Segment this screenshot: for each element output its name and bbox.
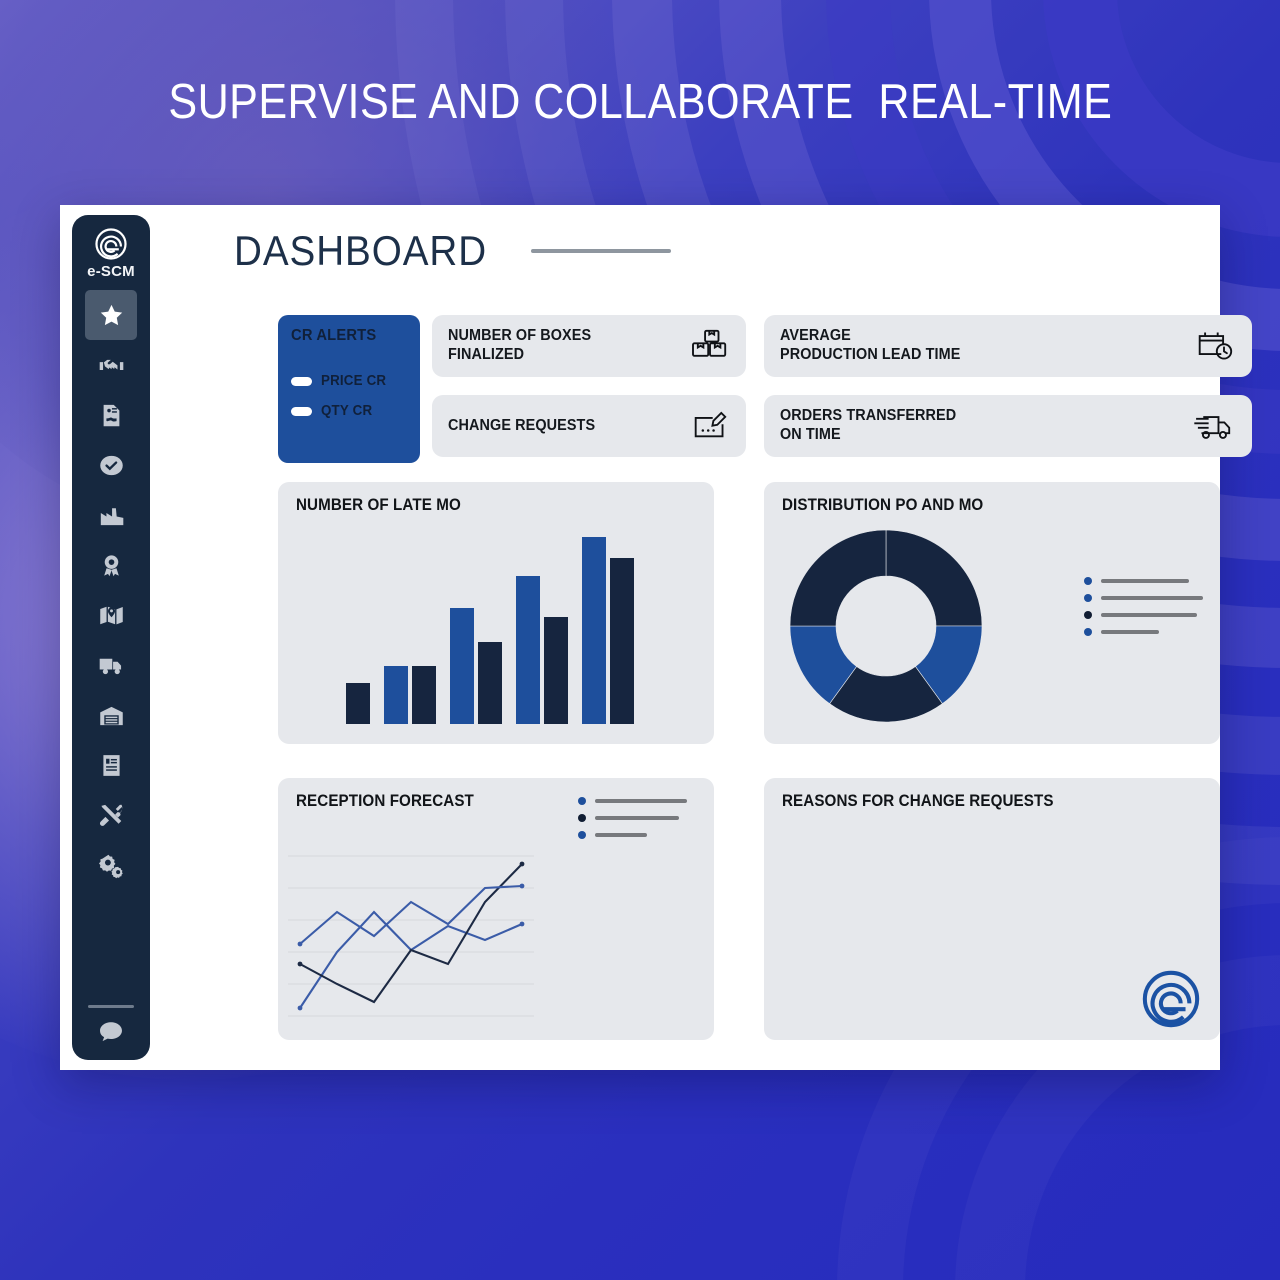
- kpi-orders-transferred[interactable]: ORDERS TRANSFERRED ON TIME: [764, 395, 1252, 457]
- cr-toggle-price[interactable]: PRICE CR: [291, 373, 392, 389]
- calendar-clock-icon: [1194, 328, 1236, 364]
- legend-label-placeholder: [1101, 579, 1189, 583]
- kpi-orders-transferred-label: ORDERS TRANSFERRED ON TIME: [780, 407, 956, 445]
- cr-alerts-card[interactable]: CR ALERTS PRICE CR QTY CR: [278, 315, 420, 463]
- sidebar-item-warehouse[interactable]: [85, 690, 137, 740]
- panel-late-mo: NUMBER OF LATE MO: [278, 482, 714, 744]
- legend-dot: [1084, 628, 1092, 636]
- sidebar-item-factory[interactable]: [85, 490, 137, 540]
- chart-late-mo: [318, 537, 648, 724]
- sidebar-nav: [85, 290, 137, 890]
- legend-dot: [578, 831, 586, 839]
- bar: [610, 558, 634, 724]
- kpi-change-requests[interactable]: CHANGE REQUESTS: [432, 395, 746, 457]
- donut-segment: [886, 530, 982, 626]
- factory-icon: [98, 502, 125, 529]
- panel-distribution: DISTRIBUTION PO AND MO: [764, 482, 1220, 744]
- legend-item: [1084, 594, 1203, 602]
- warehouse-icon: [98, 702, 125, 729]
- legend-dot: [1084, 577, 1092, 585]
- sidebar-item-settings[interactable]: [85, 840, 137, 890]
- handshake-icon: [98, 352, 125, 379]
- check-circle-icon: [98, 452, 125, 479]
- legend-label-placeholder: [595, 816, 679, 820]
- donut-legend: [1084, 577, 1203, 636]
- sidebar-item-transport[interactable]: [85, 640, 137, 690]
- contract-document-icon: [98, 402, 125, 429]
- kpi-production-lead-time-label: AVERAGE PRODUCTION LEAD TIME: [780, 327, 960, 365]
- app-window: e-SCM: [60, 205, 1220, 1070]
- bar: [412, 666, 436, 724]
- award-badge-icon: [98, 552, 125, 579]
- chart-reasons-cr: [794, 836, 1194, 1021]
- chat-bubble-icon[interactable]: [97, 1018, 125, 1046]
- truck-icon: [98, 652, 125, 679]
- sidebar-item-map[interactable]: [85, 590, 137, 640]
- legend-item: [578, 831, 687, 839]
- bar: [582, 537, 606, 724]
- legend-label-placeholder: [1101, 613, 1197, 617]
- legend-item: [1084, 628, 1203, 636]
- panel-reasons-cr-title: REASONS FOR CHANGE REQUESTS: [782, 792, 1054, 811]
- legend-item: [578, 797, 687, 805]
- toggle-pill-icon[interactable]: [291, 407, 312, 416]
- delivery-truck-icon: [1192, 409, 1236, 443]
- sidebar: e-SCM: [72, 215, 150, 1060]
- cr-toggle-price-label: PRICE CR: [321, 373, 386, 389]
- star-icon: [98, 302, 125, 329]
- tools-icon: [98, 802, 125, 829]
- cr-toggle-qty[interactable]: QTY CR: [291, 403, 377, 419]
- bar: [544, 617, 568, 724]
- brand-name: e-SCM: [87, 263, 135, 280]
- reception-forecast-legend: [578, 797, 687, 839]
- legend-item: [578, 814, 687, 822]
- sidebar-item-reports[interactable]: [85, 740, 137, 790]
- sidebar-item-quality[interactable]: [85, 540, 137, 590]
- data-point: [298, 1006, 303, 1011]
- toggle-pill-icon[interactable]: [291, 377, 312, 386]
- line-chart: [288, 848, 540, 1028]
- gears-icon: [98, 852, 125, 879]
- escm-spiral-logo-icon: [94, 227, 128, 261]
- kpi-boxes-finalized-label: NUMBER OF BOXES FINALIZED: [448, 327, 591, 365]
- bar: [478, 642, 502, 724]
- bar: [346, 683, 370, 724]
- document-list-icon: [98, 752, 125, 779]
- legend-label-placeholder: [595, 799, 687, 803]
- legend-label-placeholder: [1101, 596, 1203, 600]
- dashboard-content: DASHBOARD CR ALERTS PRICE CR QTY CR NUMB…: [166, 205, 1220, 1070]
- data-point: [520, 922, 525, 927]
- sidebar-item-maintenance[interactable]: [85, 790, 137, 840]
- title-rule: [531, 249, 671, 253]
- edit-note-icon: [690, 409, 730, 443]
- legend-item: [1084, 577, 1203, 585]
- data-point: [520, 884, 525, 889]
- banner-title: SUPERVISE AND COLLABORATE REAL-TIME: [0, 74, 1280, 130]
- legend-dot: [578, 797, 586, 805]
- sidebar-item-star[interactable]: [85, 290, 137, 340]
- escm-corner-logo-icon: [1140, 968, 1202, 1030]
- legend-dot: [1084, 594, 1092, 602]
- kpi-boxes-finalized[interactable]: NUMBER OF BOXES FINALIZED: [432, 315, 746, 377]
- bar: [384, 666, 408, 724]
- sidebar-item-handshake[interactable]: [85, 340, 137, 390]
- cr-alerts-title: CR ALERTS: [291, 327, 376, 345]
- panel-reception-forecast: RECEPTION FORECAST: [278, 778, 714, 1040]
- line-series: [300, 864, 522, 1002]
- panel-late-mo-title: NUMBER OF LATE MO: [296, 496, 461, 515]
- page-title: DASHBOARD: [234, 227, 487, 275]
- panel-reasons-cr: REASONS FOR CHANGE REQUESTS: [764, 778, 1220, 1040]
- panel-reception-forecast-title: RECEPTION FORECAST: [296, 792, 474, 811]
- legend-dot: [1084, 611, 1092, 619]
- sidebar-footer: [88, 1005, 134, 1046]
- panel-distribution-title: DISTRIBUTION PO AND MO: [782, 496, 983, 515]
- bar: [516, 576, 540, 724]
- data-point: [520, 862, 525, 867]
- banner-title-text: SUPERVISE AND COLLABORATE REAL-TIME: [168, 74, 1112, 130]
- brand-logo: e-SCM: [87, 227, 135, 280]
- legend-dot: [578, 814, 586, 822]
- map-icon: [98, 602, 125, 629]
- line-series: [300, 912, 522, 1008]
- donut-segment: [790, 530, 886, 626]
- legend-label-placeholder: [1101, 630, 1159, 634]
- sidebar-divider: [88, 1005, 134, 1008]
- cr-toggle-qty-label: QTY CR: [321, 403, 372, 419]
- bar: [450, 608, 474, 724]
- line-series: [300, 886, 522, 944]
- page-title-row: DASHBOARD: [234, 227, 671, 275]
- sidebar-item-contract[interactable]: [85, 390, 137, 440]
- kpi-production-lead-time[interactable]: AVERAGE PRODUCTION LEAD TIME: [764, 315, 1252, 377]
- legend-item: [1084, 611, 1203, 619]
- boxes-icon: [690, 329, 730, 363]
- sidebar-item-validated[interactable]: [85, 440, 137, 490]
- kpi-change-requests-label: CHANGE REQUESTS: [448, 417, 595, 436]
- data-point: [298, 962, 303, 967]
- donut-chart: [786, 526, 986, 726]
- legend-label-placeholder: [595, 833, 647, 837]
- data-point: [298, 942, 303, 947]
